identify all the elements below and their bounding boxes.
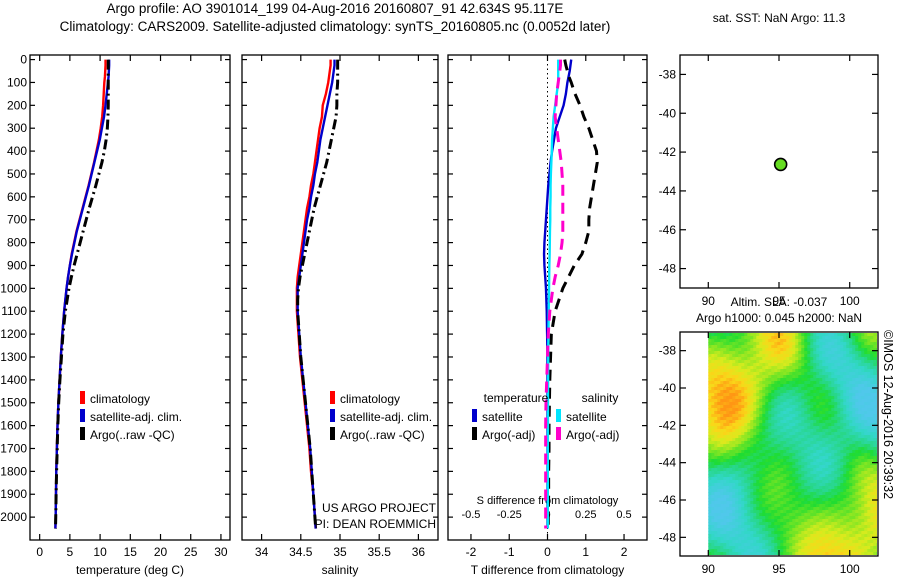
map-bottom-y-tick-label: -42 (659, 418, 677, 432)
y-tick-label-900: 900 (7, 258, 27, 272)
y-tick-label-1600: 1600 (0, 419, 27, 433)
x-tick-label: 35 (333, 545, 347, 559)
y-tick-label-500: 500 (7, 167, 27, 181)
series-satellite-adj-clim- (298, 60, 335, 529)
map-top-y-tick-label: -48 (659, 262, 677, 276)
map-bottom-x-tick-label: 100 (840, 562, 860, 576)
map-top-y-tick-label: -44 (659, 184, 677, 198)
map-bottom-y-tick-label: -44 (659, 456, 677, 470)
legend-swatch (80, 409, 85, 422)
y-tick-label-1500: 1500 (0, 396, 27, 410)
y-tick-label-400: 400 (7, 144, 27, 158)
x-tick-label: 0 (544, 545, 551, 559)
map-bottom-x-tick-label: 95 (772, 562, 786, 576)
x-tick-label: 30 (214, 545, 228, 559)
s-tick-label: 0.5 (616, 509, 631, 521)
figure-canvas: Argo profile: AO 3901014_199 04-Aug-2016… (0, 0, 900, 580)
x-tick-label: 36 (412, 545, 426, 559)
series-climatology (297, 60, 331, 529)
y-tick-label-300: 300 (7, 121, 27, 135)
legend-label: satellite-adj. clim. (340, 410, 432, 424)
legend-swatch (556, 427, 561, 440)
x-tick-label: 15 (124, 545, 138, 559)
map-top-x-tick-label: 90 (702, 294, 716, 308)
x-tick-label: 20 (154, 545, 168, 559)
y-tick-label-0: 0 (20, 53, 27, 67)
x-tick-label: 2 (621, 545, 628, 559)
x-axis-label-salinity: salinity (322, 563, 359, 577)
map-bottom-y-tick-label: -46 (659, 493, 677, 507)
legend-swatch (330, 409, 335, 422)
legend-label: satellite (482, 410, 523, 424)
legend-swatch (556, 409, 561, 422)
x-tick-label: 34 (255, 545, 269, 559)
y-tick-label-1700: 1700 (0, 441, 27, 455)
y-tick-label-2000: 2000 (0, 510, 27, 524)
x-tick-label: 0 (36, 545, 43, 559)
credit-label: ©IMOS 12-Aug-2016 20:39:32 (881, 330, 895, 499)
map-bottom-title-line1: Altim. SLA: -0.037 (731, 295, 828, 309)
legend-swatch (330, 391, 335, 404)
map-top-y-tick-label: -40 (659, 106, 677, 120)
series-satellite-adj-clim- (55, 60, 109, 529)
y-tick-label-700: 700 (7, 213, 27, 227)
y-tick-label-1000: 1000 (0, 281, 27, 295)
legend-swatch (472, 409, 477, 422)
y-tick-label-1900: 1900 (0, 487, 27, 501)
legend-group-temperature: temperature (484, 391, 549, 405)
legend-label: Argo(..raw -QC) (340, 428, 425, 442)
x-axis-label-temperature: temperature (deg C) (76, 563, 184, 577)
map-bottom-title-line2: Argo h1000: 0.045 h2000: NaN (696, 311, 862, 325)
s-tick-label: 0.25 (575, 509, 596, 521)
sla-heatmap (708, 333, 880, 556)
panel-frame-temperature (30, 55, 230, 540)
y-tick-label-100: 100 (7, 75, 27, 89)
series-climatology (55, 60, 105, 529)
y-tick-label-1200: 1200 (0, 327, 27, 341)
project-line2: PI: DEAN ROEMMICH (315, 517, 436, 531)
x-tick-label: 35.5 (368, 545, 392, 559)
s-tick-label: -0.5 (461, 509, 480, 521)
map-top-y-tick-label: -46 (659, 223, 677, 237)
s-tick-label: -0.25 (497, 509, 522, 521)
series-argo-raw-qc- (298, 60, 338, 529)
x-tick-label: -2 (466, 545, 477, 559)
legend-label: climatology (340, 392, 400, 406)
argo-position-marker (775, 158, 787, 170)
x-axis-label-difference: T difference from climatology (471, 563, 625, 577)
x-tick-label: 34.5 (289, 545, 313, 559)
y-tick-label-1800: 1800 (0, 464, 27, 478)
legend-swatch (80, 391, 85, 404)
map-bottom-y-tick-label: -48 (659, 530, 677, 544)
panel-frame-salinity (242, 55, 438, 540)
map-top-frame (680, 55, 878, 288)
legend-label: satellite (566, 410, 607, 424)
map-bottom-y-tick-label: -38 (659, 344, 677, 358)
plots-svg: 0100200300400500600700800900100011001200… (0, 0, 900, 580)
y-tick-label-1300: 1300 (0, 350, 27, 364)
y-tick-label-1400: 1400 (0, 373, 27, 387)
legend-swatch (330, 427, 335, 440)
legend-label: Argo(..raw -QC) (90, 428, 175, 442)
legend-label: climatology (90, 392, 150, 406)
map-bottom-x-tick-label: 90 (702, 562, 716, 576)
legend-label: satellite-adj. clim. (90, 410, 182, 424)
x-tick-label: 10 (93, 545, 107, 559)
legend-swatch (472, 427, 477, 440)
legend-swatch (80, 427, 85, 440)
legend-group-salinity: salinity (582, 391, 619, 405)
x-tick-label: 1 (582, 545, 589, 559)
y-tick-label-800: 800 (7, 236, 27, 250)
project-line1: US ARGO PROJECT (322, 501, 437, 515)
map-top-y-tick-label: -38 (659, 67, 677, 81)
x-tick-label: 5 (67, 545, 74, 559)
map-top-x-tick-label: 100 (840, 294, 860, 308)
legend-label: Argo(-adj) (566, 428, 619, 442)
x-tick-label: -1 (504, 545, 515, 559)
x-tick-label: 25 (184, 545, 198, 559)
y-tick-label-200: 200 (7, 98, 27, 112)
y-tick-label-1100: 1100 (1, 304, 27, 318)
y-tick-label-600: 600 (7, 190, 27, 204)
legend-label: Argo(-adj) (482, 428, 535, 442)
map-top-title: sat. SST: NaN Argo: 11.3 (713, 11, 846, 25)
map-top-y-tick-label: -42 (659, 145, 677, 159)
map-bottom-y-tick-label: -40 (659, 381, 677, 395)
